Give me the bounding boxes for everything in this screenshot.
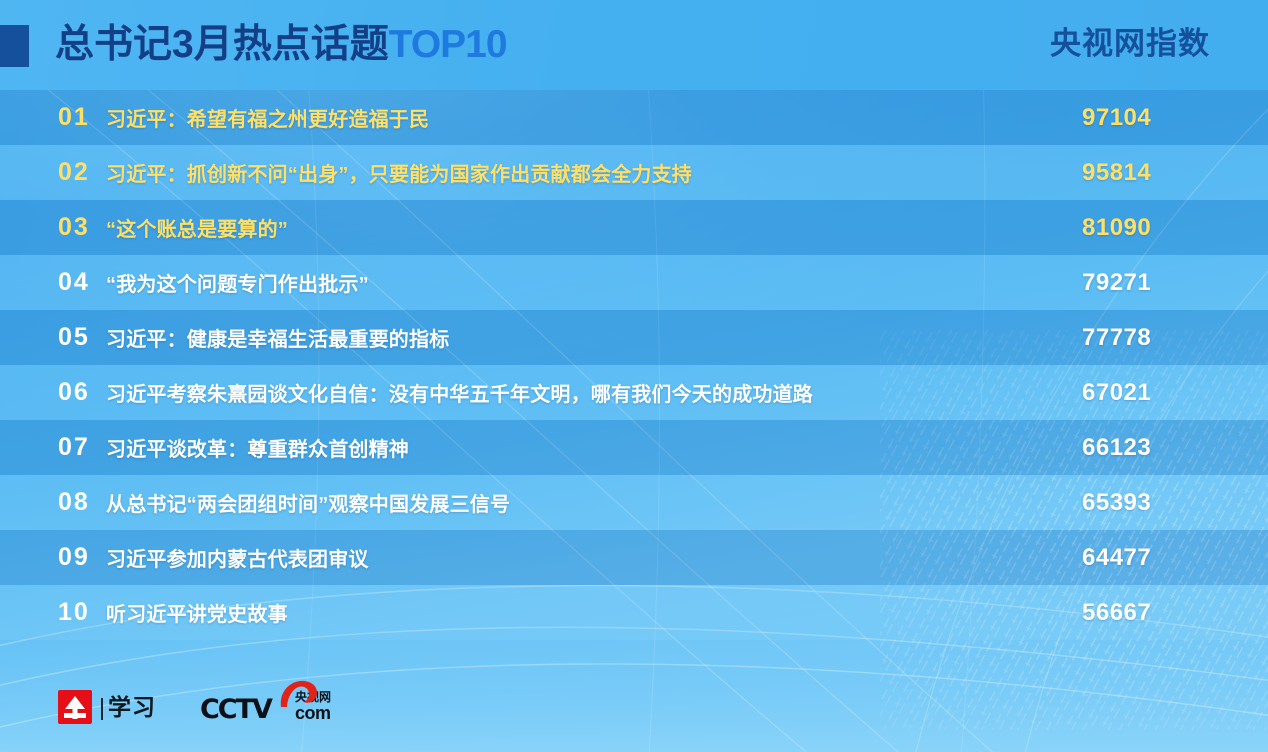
topic-title[interactable]: 习近平谈改革：尊重群众首创精神 [78, 433, 1058, 462]
table-row[interactable]: 04“我为这个问题专门作出批示”79271 [0, 255, 1268, 310]
topic-title[interactable]: 习近平：希望有福之州更好造福于民 [78, 103, 1058, 132]
table-row[interactable]: 07习近平谈改革：尊重群众首创精神66123 [0, 420, 1268, 475]
metric-column-label: 央视网指数 [1050, 22, 1210, 66]
table-row[interactable]: 10听习近平讲党史故事56667 [0, 585, 1268, 640]
cctv-swoosh-icon [277, 679, 319, 709]
rank-number: 07 [0, 435, 78, 460]
index-value: 66123 [1058, 434, 1268, 462]
topic-title[interactable]: 习近平参加内蒙古代表团审议 [78, 543, 1058, 572]
table-row[interactable]: 09习近平参加内蒙古代表团审议64477 [0, 530, 1268, 585]
table-row[interactable]: 05习近平：健康是幸福生活最重要的指标77778 [0, 310, 1268, 365]
xuexi-logo-text: |学习 [99, 696, 156, 719]
rank-number: 02 [0, 160, 78, 185]
index-value: 56667 [1058, 599, 1268, 627]
table-row[interactable]: 06习近平考察朱熹园谈文化自信：没有中华五千年文明，哪有我们今天的成功道路670… [0, 365, 1268, 420]
rank-number: 03 [0, 215, 78, 240]
table-row[interactable]: 01习近平：希望有福之州更好造福于民97104 [0, 90, 1268, 145]
index-value: 79271 [1058, 269, 1268, 297]
index-value: 67021 [1058, 379, 1268, 407]
header-square-marker [0, 25, 29, 67]
rank-number: 04 [0, 270, 78, 295]
rank-number: 10 [0, 600, 78, 625]
index-value: 81090 [1058, 214, 1268, 242]
index-value: 65393 [1058, 489, 1268, 517]
topic-title[interactable]: 听习近平讲党史故事 [78, 598, 1058, 627]
xuexi-divider-glyph: | [99, 694, 106, 720]
index-value: 77778 [1058, 324, 1268, 352]
xuexi-qiangguo-logo: |学习 [58, 690, 156, 724]
page-title: 总书记3月热点话题TOP10 [55, 18, 507, 72]
topic-title[interactable]: “我为这个问题专门作出批示” [78, 268, 1058, 297]
topic-title[interactable]: 从总书记“两会团组时间”观察中国发展三信号 [78, 488, 1058, 517]
cctv-wordmark: CCTV [200, 696, 271, 723]
table-row[interactable]: 08从总书记“两会团组时间”观察中国发展三信号65393 [0, 475, 1268, 530]
xuexi-logo-label: 学习 [108, 694, 156, 720]
table-row[interactable]: 02习近平：抓创新不问“出身”，只要能为国家作出贡献都会全力支持95814 [0, 145, 1268, 200]
index-value: 64477 [1058, 544, 1268, 572]
xuexi-mark-icon [58, 690, 92, 724]
rank-number: 09 [0, 545, 78, 570]
rank-number: 05 [0, 325, 78, 350]
index-value: 97104 [1058, 104, 1268, 132]
topic-title[interactable]: 习近平：健康是幸福生活最重要的指标 [78, 323, 1058, 352]
topic-title[interactable]: 习近平考察朱熹园谈文化自信：没有中华五千年文明，哪有我们今天的成功道路 [78, 378, 1058, 407]
topic-title[interactable]: 习近平：抓创新不问“出身”，只要能为国家作出贡献都会全力支持 [78, 158, 1058, 187]
poster-header: 总书记3月热点话题TOP10 央视网指数 [0, 0, 1268, 90]
page-title-accent: TOP10 [389, 23, 507, 66]
poster-root: 总书记3月热点话题TOP10 央视网指数 01习近平：希望有福之州更好造福于民9… [0, 0, 1268, 752]
page-title-main: 总书记3月热点话题 [55, 23, 389, 66]
poster-footer: |学习 CCTV 央视网 com [0, 640, 1268, 752]
table-row[interactable]: 03“这个账总是要算的”81090 [0, 200, 1268, 255]
footer-logos: |学习 CCTV 央视网 com [58, 690, 331, 724]
topic-ranking-list: 01习近平：希望有福之州更好造福于民9710402习近平：抓创新不问“出身”，只… [0, 90, 1268, 640]
topic-title[interactable]: “这个账总是要算的” [78, 213, 1058, 242]
rank-number: 01 [0, 105, 78, 130]
index-value: 95814 [1058, 159, 1268, 187]
cctv-logo: CCTV 央视网 com [200, 691, 331, 723]
rank-number: 08 [0, 490, 78, 515]
rank-number: 06 [0, 380, 78, 405]
